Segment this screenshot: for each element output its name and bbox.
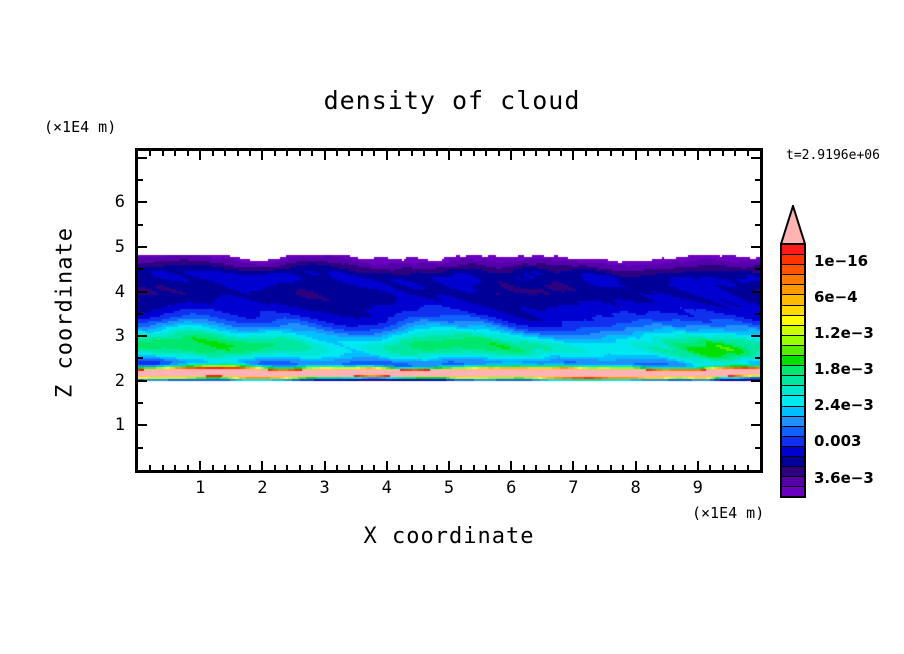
x-tick-top — [485, 151, 487, 156]
x-tick — [423, 465, 425, 470]
x-tick-label: 7 — [558, 478, 588, 498]
x-tick-top — [311, 151, 313, 156]
page-title: density of cloud — [0, 86, 904, 115]
x-tick-top — [672, 151, 674, 156]
x-tick-top — [286, 151, 288, 156]
x-tick-label: 9 — [683, 478, 713, 498]
y-tick-label: 1 — [103, 415, 125, 435]
x-tick — [398, 465, 400, 470]
colorbar-band — [782, 336, 804, 346]
x-tick — [187, 465, 189, 470]
x-tick-top — [684, 151, 686, 156]
colorbar-band — [782, 417, 804, 427]
x-tick — [473, 465, 475, 470]
x-tick — [311, 465, 313, 470]
y-tick — [138, 424, 147, 426]
x-tick — [261, 461, 263, 470]
y-tick — [138, 402, 143, 404]
colorbar-band — [782, 396, 804, 406]
x-tick-label: 5 — [434, 478, 464, 498]
x-tick-top — [436, 151, 438, 156]
colorbar-tick-label: 3.6e−3 — [814, 469, 874, 487]
y-tick-right — [755, 357, 760, 359]
x-tick — [249, 465, 251, 470]
x-tick — [348, 465, 350, 470]
contour-plot-area — [135, 148, 763, 473]
colorbar-band — [782, 386, 804, 396]
x-tick — [709, 465, 711, 470]
x-tick-top — [722, 151, 724, 156]
x-tick-top — [212, 151, 214, 156]
colorbar-band — [782, 316, 804, 326]
colorbar-band — [782, 295, 804, 305]
x-tick-label: 3 — [310, 478, 340, 498]
y-axis-title: Z coordinate — [53, 203, 78, 423]
x-tick-top — [261, 151, 263, 160]
x-tick-top — [510, 151, 512, 160]
colorbar-band — [782, 356, 804, 366]
colorbar-tick-label: 1.2e−3 — [814, 324, 874, 342]
colorbar-band — [782, 326, 804, 336]
x-tick — [386, 461, 388, 470]
x-tick — [560, 465, 562, 470]
colorbar-tick-label: 2.4e−3 — [814, 396, 874, 414]
x-tick-top — [224, 151, 226, 156]
y-axis-unit-label: (×1E4 m) — [44, 118, 116, 136]
x-tick — [610, 465, 612, 470]
y-tick — [138, 201, 147, 203]
x-tick — [635, 461, 637, 470]
y-tick-right — [751, 201, 760, 203]
time-annotation: t=2.9196e+06 — [786, 148, 880, 163]
y-tick-right — [751, 291, 760, 293]
x-tick-top — [361, 151, 363, 156]
x-tick — [286, 465, 288, 470]
x-tick — [411, 465, 413, 470]
x-tick — [149, 465, 151, 470]
x-tick-top — [747, 151, 749, 156]
x-tick-top — [523, 151, 525, 156]
x-tick — [485, 465, 487, 470]
x-tick — [174, 465, 176, 470]
y-tick — [138, 224, 143, 226]
colorbar-tick-label: 1e−16 — [814, 252, 868, 270]
colorbar-band — [782, 457, 804, 467]
y-tick-label: 2 — [103, 371, 125, 391]
x-tick — [697, 461, 699, 470]
x-tick-top — [597, 151, 599, 156]
x-tick-top — [411, 151, 413, 156]
x-tick — [523, 465, 525, 470]
x-tick-top — [610, 151, 612, 156]
colorbar-over-arrow-icon — [780, 205, 806, 245]
y-tick-label: 4 — [103, 282, 125, 302]
x-tick — [336, 465, 338, 470]
y-tick-label: 3 — [103, 326, 125, 346]
x-tick-top — [535, 151, 537, 156]
y-tick-right — [755, 313, 760, 315]
x-tick-top — [336, 151, 338, 156]
y-tick-right — [751, 157, 760, 159]
y-tick-right — [751, 335, 760, 337]
y-tick — [138, 380, 147, 382]
x-tick-top — [622, 151, 624, 156]
y-tick — [138, 313, 143, 315]
y-tick — [138, 268, 143, 270]
x-tick — [722, 465, 724, 470]
x-tick-top — [659, 151, 661, 156]
x-tick-top — [734, 151, 736, 156]
x-tick-top — [274, 151, 276, 156]
y-tick-right — [751, 424, 760, 426]
x-tick-top — [324, 151, 326, 160]
x-axis-unit-label: (×1E4 m) — [692, 504, 764, 522]
x-tick-top — [572, 151, 574, 160]
y-tick-right — [751, 246, 760, 248]
x-tick — [548, 465, 550, 470]
y-tick — [138, 179, 143, 181]
x-tick — [373, 465, 375, 470]
x-tick — [647, 465, 649, 470]
x-tick — [498, 465, 500, 470]
x-tick-label: 8 — [621, 478, 651, 498]
colorbar-band — [782, 245, 804, 255]
x-tick-top — [174, 151, 176, 156]
x-tick-label: 1 — [185, 478, 215, 498]
colorbar-bands — [780, 243, 806, 498]
colorbar-band — [782, 285, 804, 295]
x-tick — [212, 465, 214, 470]
x-tick-top — [199, 151, 201, 160]
x-tick-top — [162, 151, 164, 156]
x-tick-top — [249, 151, 251, 156]
colorbar-tick-label: 6e−4 — [814, 288, 858, 306]
colorbar-tick-label: 0.003 — [814, 432, 861, 450]
x-tick — [237, 465, 239, 470]
x-tick — [274, 465, 276, 470]
colorbar-band — [782, 487, 804, 496]
x-tick — [659, 465, 661, 470]
colorbar-band — [782, 447, 804, 457]
x-tick — [361, 465, 363, 470]
x-tick-top — [709, 151, 711, 156]
x-tick — [622, 465, 624, 470]
y-tick-right — [755, 268, 760, 270]
x-tick-top — [548, 151, 550, 156]
x-tick-top — [448, 151, 450, 160]
colorbar-band — [782, 346, 804, 356]
x-tick-top — [149, 151, 151, 156]
x-tick-label: 2 — [247, 478, 277, 498]
x-tick — [448, 461, 450, 470]
y-tick — [138, 157, 147, 159]
colorbar-band — [782, 366, 804, 376]
y-tick-right — [755, 402, 760, 404]
y-tick-label: 5 — [103, 237, 125, 257]
colorbar-band — [782, 376, 804, 386]
x-tick-top — [299, 151, 301, 156]
colorbar-band — [782, 407, 804, 417]
colorbar-band — [782, 477, 804, 487]
x-tick — [535, 465, 537, 470]
colorbar-band — [782, 437, 804, 447]
x-tick-top — [398, 151, 400, 156]
colorbar-band — [782, 467, 804, 477]
x-tick — [734, 465, 736, 470]
contour-canvas — [138, 151, 760, 470]
x-tick — [597, 465, 599, 470]
x-tick-top — [348, 151, 350, 156]
x-tick — [672, 465, 674, 470]
y-tick — [138, 447, 143, 449]
x-tick-top — [187, 151, 189, 156]
x-tick-top — [697, 151, 699, 160]
x-tick — [436, 465, 438, 470]
x-tick — [510, 461, 512, 470]
x-tick-top — [423, 151, 425, 156]
x-tick-top — [498, 151, 500, 156]
x-tick — [572, 461, 574, 470]
x-tick-top — [237, 151, 239, 156]
x-tick — [684, 465, 686, 470]
y-tick — [138, 335, 147, 337]
y-tick-label: 6 — [103, 192, 125, 212]
colorbar-band — [782, 427, 804, 437]
colorbar-band — [782, 265, 804, 275]
x-tick-top — [635, 151, 637, 160]
colorbar-band — [782, 255, 804, 265]
y-tick — [138, 246, 147, 248]
y-tick-right — [755, 224, 760, 226]
y-tick-right — [751, 380, 760, 382]
x-tick-top — [560, 151, 562, 156]
y-tick-right — [755, 179, 760, 181]
x-tick — [224, 465, 226, 470]
x-tick-label: 4 — [372, 478, 402, 498]
x-tick-top — [473, 151, 475, 156]
x-tick — [585, 465, 587, 470]
y-tick-right — [755, 447, 760, 449]
x-tick — [747, 465, 749, 470]
x-tick-label: 6 — [496, 478, 526, 498]
x-tick-top — [386, 151, 388, 160]
x-tick-top — [373, 151, 375, 156]
colorbar-tick-label: 1.8e−3 — [814, 360, 874, 378]
x-tick-top — [647, 151, 649, 156]
x-tick — [324, 461, 326, 470]
x-axis-title: X coordinate — [135, 524, 763, 549]
colorbar: 3.6e−30.0032.4e−31.8e−31.2e−36e−41e−16 — [776, 205, 904, 480]
x-tick — [162, 465, 164, 470]
x-tick — [299, 465, 301, 470]
x-tick-top — [460, 151, 462, 156]
colorbar-band — [782, 275, 804, 285]
x-tick — [460, 465, 462, 470]
colorbar-band — [782, 306, 804, 316]
x-tick — [199, 461, 201, 470]
y-tick — [138, 357, 143, 359]
x-tick-top — [585, 151, 587, 156]
y-tick — [138, 291, 147, 293]
